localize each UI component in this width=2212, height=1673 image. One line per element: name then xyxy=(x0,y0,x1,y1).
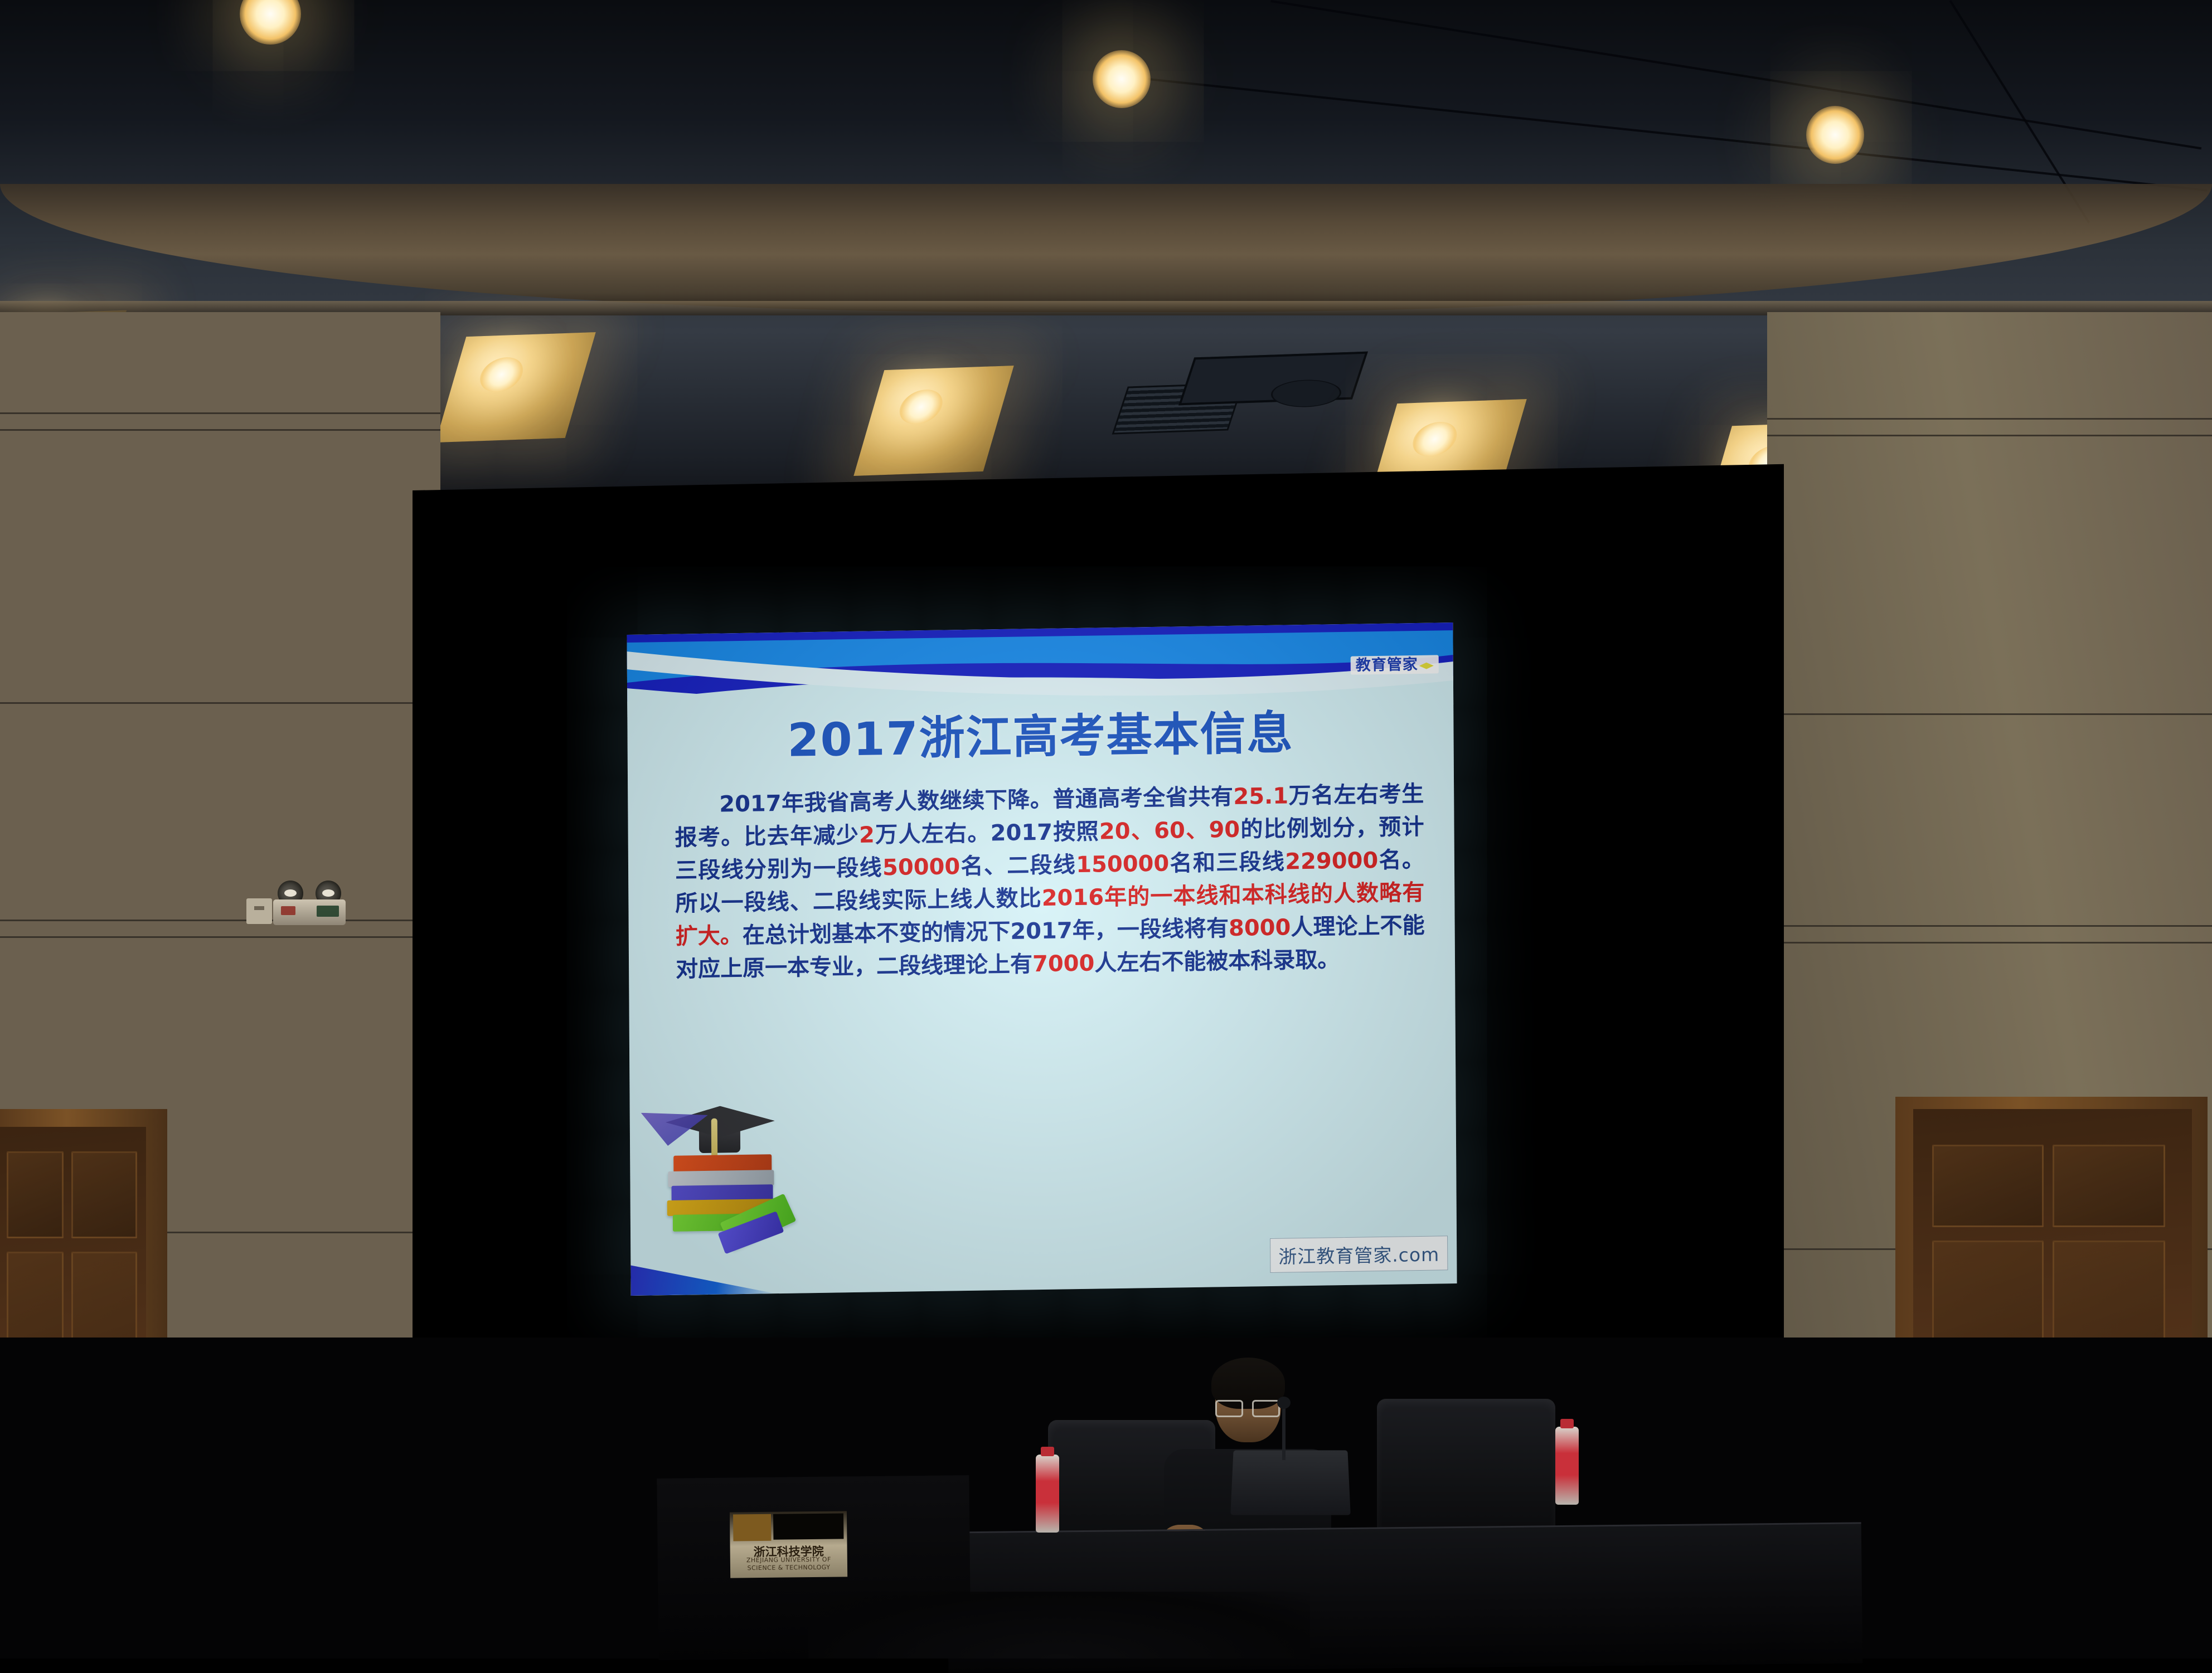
podium-sign-english-2: SCIENCE & TECHNOLOGY xyxy=(730,1563,847,1572)
slide-text-normal: 2017年我省高考人数继续下降。普通高考全省共有 xyxy=(719,784,1233,818)
slide-text-highlight: 20、60、90 xyxy=(1099,817,1240,845)
graduation-cap-icon xyxy=(1419,663,1434,670)
slide-text-normal: 人左右不能被本科录取。 xyxy=(1094,947,1340,976)
slide-text-highlight: 8000 xyxy=(1229,915,1291,941)
podium-sign: 浙江科技学院 ZHEJIANG UNIVERSITY OF SCIENCE & … xyxy=(730,1511,847,1578)
slide-watermark: 浙江教育管家.com xyxy=(1270,1236,1448,1273)
slide-text-normal: 万人左右。2017按照 xyxy=(875,819,1099,848)
speaker-head xyxy=(1215,1363,1281,1442)
slide-text-highlight: 50000 xyxy=(882,854,960,881)
wall-socket-icon xyxy=(246,898,272,924)
microphone-icon xyxy=(1282,1404,1286,1460)
ceiling-spotlight xyxy=(1093,50,1151,108)
water-bottle-left xyxy=(1036,1455,1059,1533)
slide-text-highlight: 7000 xyxy=(1032,951,1095,977)
foreground-silhouette xyxy=(808,1592,1310,1659)
water-bottle-right xyxy=(1555,1427,1579,1505)
podium-sign-english: ZHEJIANG UNIVERSITY OF xyxy=(730,1555,847,1564)
eyeglasses-icon xyxy=(1215,1400,1280,1414)
auditorium-scene: 教育管家 2017浙江高考基本信息 2017年我省高考人数继续下降。普通高考全省… xyxy=(0,0,2212,1659)
slide-text-normal: 在总计划基本不变的情况下2017年，一段线将有 xyxy=(743,916,1229,949)
slide-text-normal: 名、二段线 xyxy=(960,852,1076,879)
light-bulb-icon xyxy=(1408,421,1461,458)
cap-tassel xyxy=(711,1118,717,1161)
slide-logo-text: 教育管家 xyxy=(1356,656,1418,674)
laptop[interactable] xyxy=(1230,1450,1351,1515)
slide-title: 2017浙江高考基本信息 xyxy=(627,708,1453,766)
slide-logo-badge: 教育管家 xyxy=(1351,655,1439,674)
slide-body-text: 2017年我省高考人数继续下降。普通高考全省共有25.1万名左右考生报考。比去年… xyxy=(675,778,1425,986)
slide-text-highlight: 2 xyxy=(859,822,875,848)
ceiling-spotlight xyxy=(1806,106,1864,164)
slide-paragraph: 2017年我省高考人数继续下降。普通高考全省共有25.1万名左右考生报考。比去年… xyxy=(675,778,1425,986)
slide-text-highlight: 25.1 xyxy=(1233,783,1288,809)
light-bulb-icon xyxy=(895,389,947,425)
slide-corner-accent xyxy=(630,1259,775,1296)
slide-header-waves xyxy=(627,622,1453,717)
light-bulb-icon xyxy=(476,357,527,393)
slide-text-highlight: 150000 xyxy=(1076,851,1169,878)
emergency-light-left xyxy=(273,881,346,934)
projected-slide: 教育管家 2017浙江高考基本信息 2017年我省高考人数继续下降。普通高考全省… xyxy=(627,622,1457,1296)
slide-text-highlight: 229000 xyxy=(1285,848,1378,874)
slide-text-normal: 名和三段线 xyxy=(1169,849,1285,877)
